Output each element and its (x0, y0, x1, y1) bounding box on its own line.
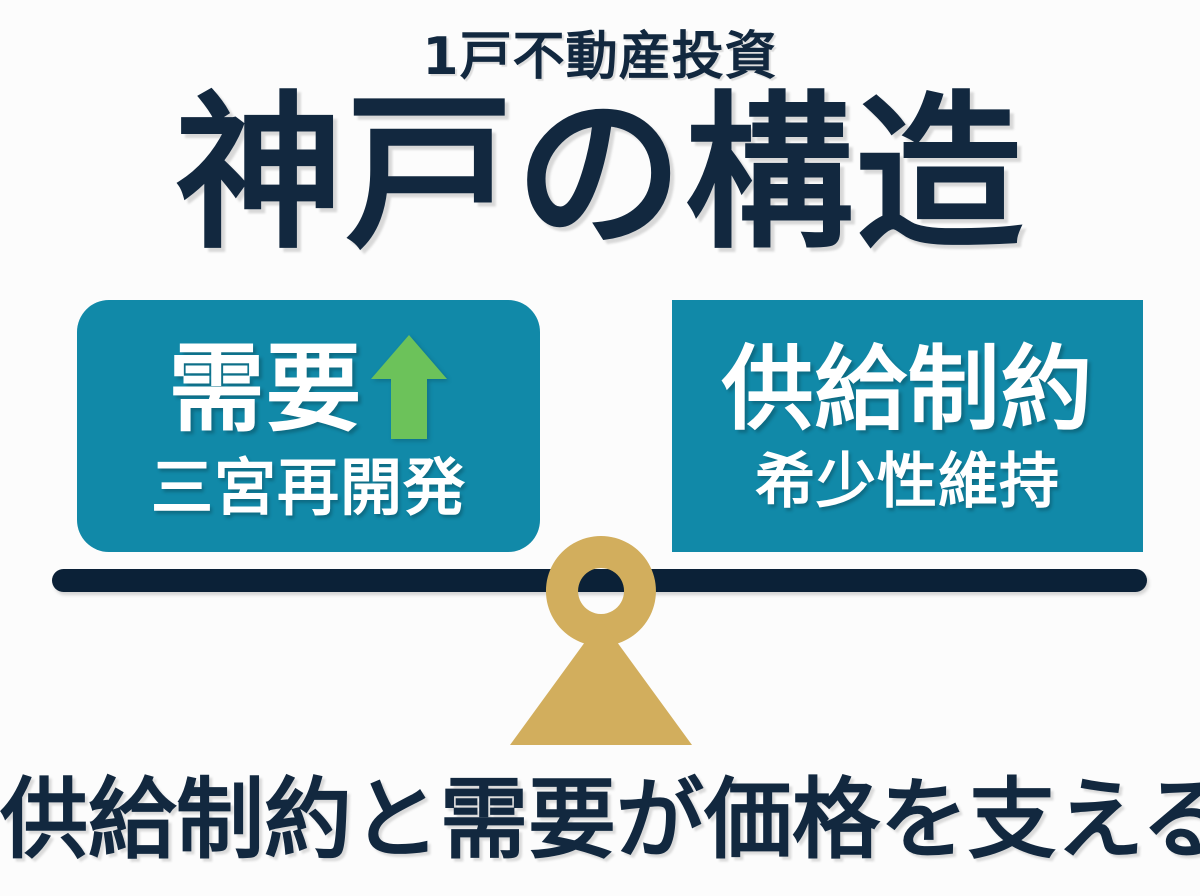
infographic-canvas: 1戸不動産投資 神戸の構造 需要 三宮再開発 供給制約 希少性維持 供給制約と需… (0, 0, 1200, 896)
balance-fulcrum-icon (496, 528, 706, 750)
page-title: 神戸の構造 (0, 84, 1200, 264)
balance-pan-demand: 需要 三宮再開発 (77, 300, 540, 552)
balance-pan-supply: 供給制約 希少性維持 (672, 300, 1143, 552)
demand-sub-label: 三宮再開発 (151, 453, 466, 523)
demand-label: 需要 (169, 337, 363, 441)
arrow-up-icon (369, 333, 449, 441)
supply-sub-label: 希少性維持 (755, 448, 1060, 516)
demand-main-row: 需要 (169, 333, 449, 445)
supply-label: 供給制約 (721, 340, 1093, 440)
supply-main-row: 供給制約 (721, 340, 1093, 440)
footer-caption: 供給制約と需要が価格を支える (0, 768, 1200, 872)
